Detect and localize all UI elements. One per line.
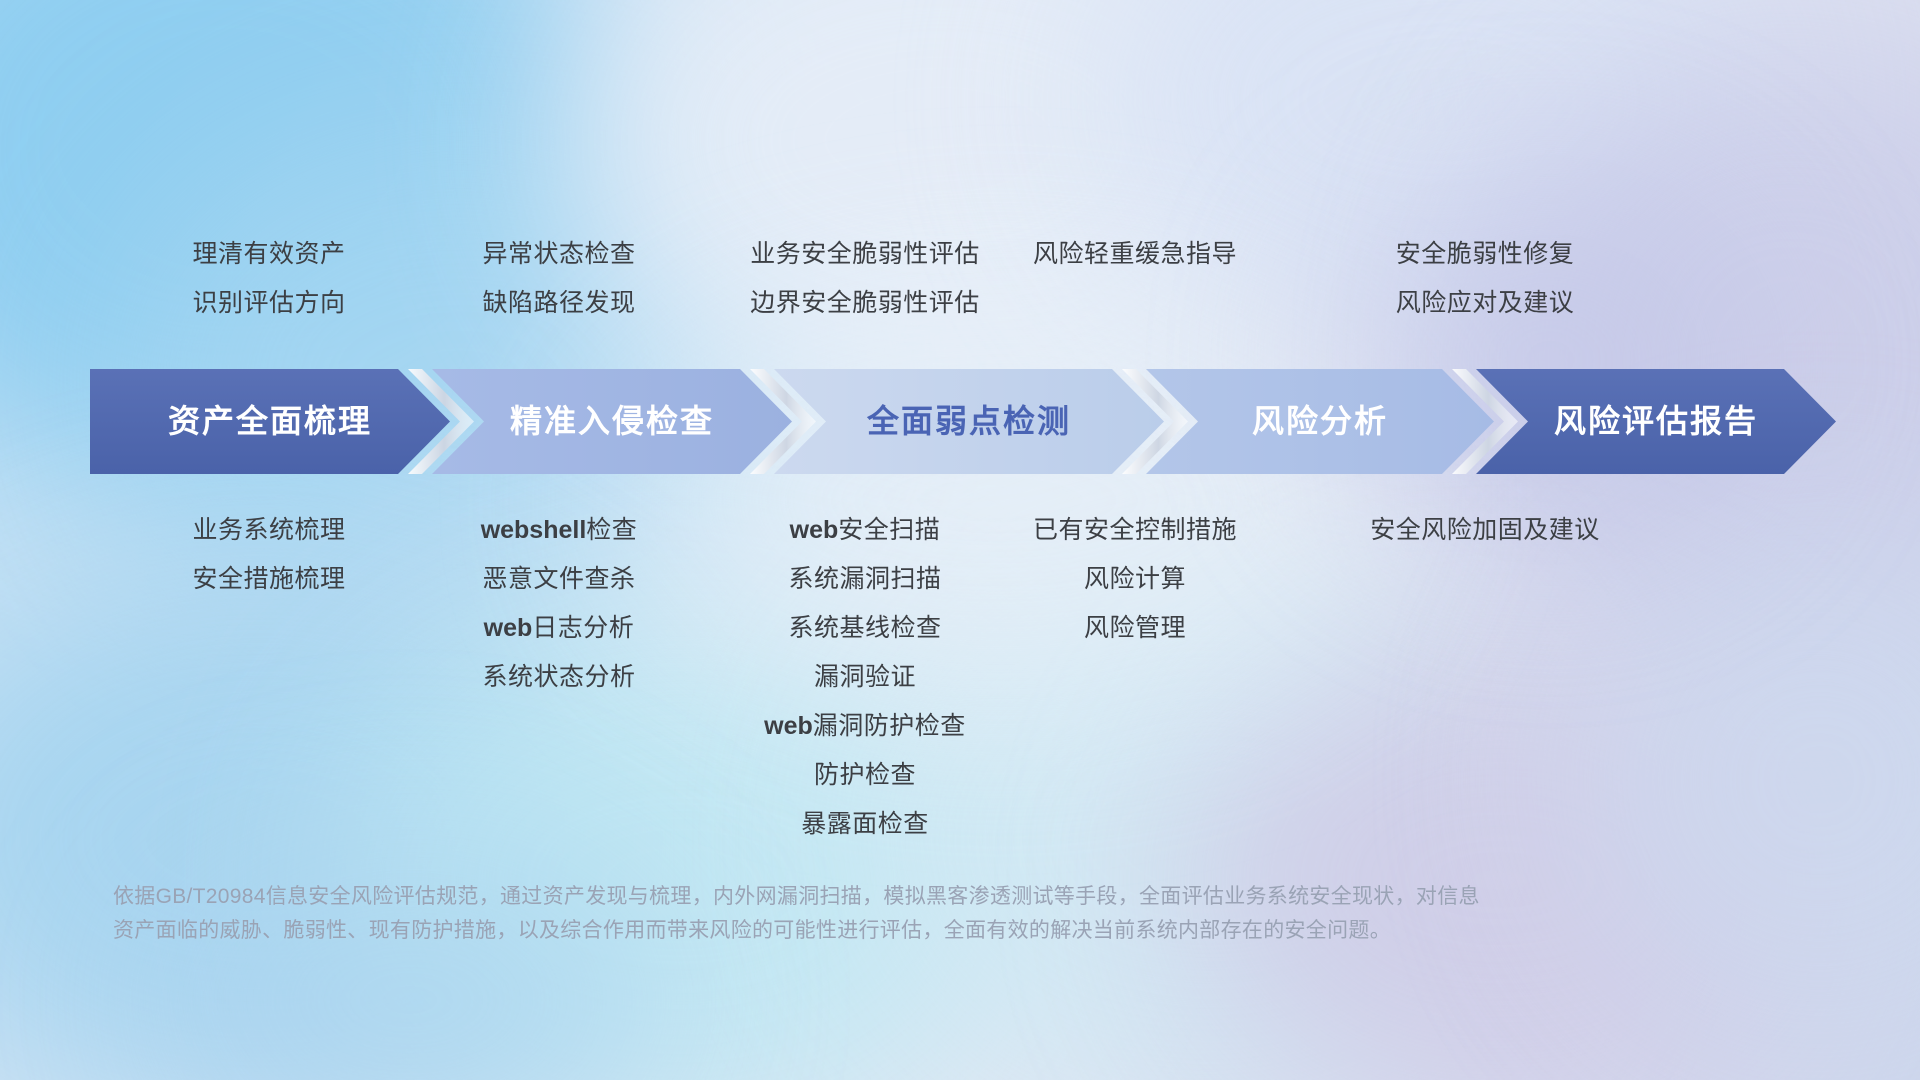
footer-line-2: 资产面临的威胁、脆弱性、现有防护措施，以及综合作用而带来风险的可能性进行评估，全… (113, 914, 1813, 948)
footer-line-1: 依据GB/T20984信息安全风险评估规范，通过资产发现与梳理，内外网漏洞扫描，… (113, 880, 1813, 914)
footer-description: 依据GB/T20984信息安全风险评估规范，通过资产发现与梳理，内外网漏洞扫描，… (113, 880, 1813, 948)
task-item: 已有安全控制措施 (930, 506, 1340, 555)
task-item: 安全风险加固及建议 (1280, 506, 1690, 555)
slide-canvas: 理清有效资产识别评估方向 异常状态检查缺陷路径发现 业务安全脆弱性评估边界安全脆… (0, 0, 1920, 1080)
stage-5-tasks: 安全风险加固及建议 (1280, 506, 1690, 555)
stage-4-tasks: 已有安全控制措施风险计算风险管理 (930, 506, 1340, 653)
task-item: 风险计算 (930, 555, 1340, 604)
task-item: 风险管理 (930, 604, 1340, 653)
